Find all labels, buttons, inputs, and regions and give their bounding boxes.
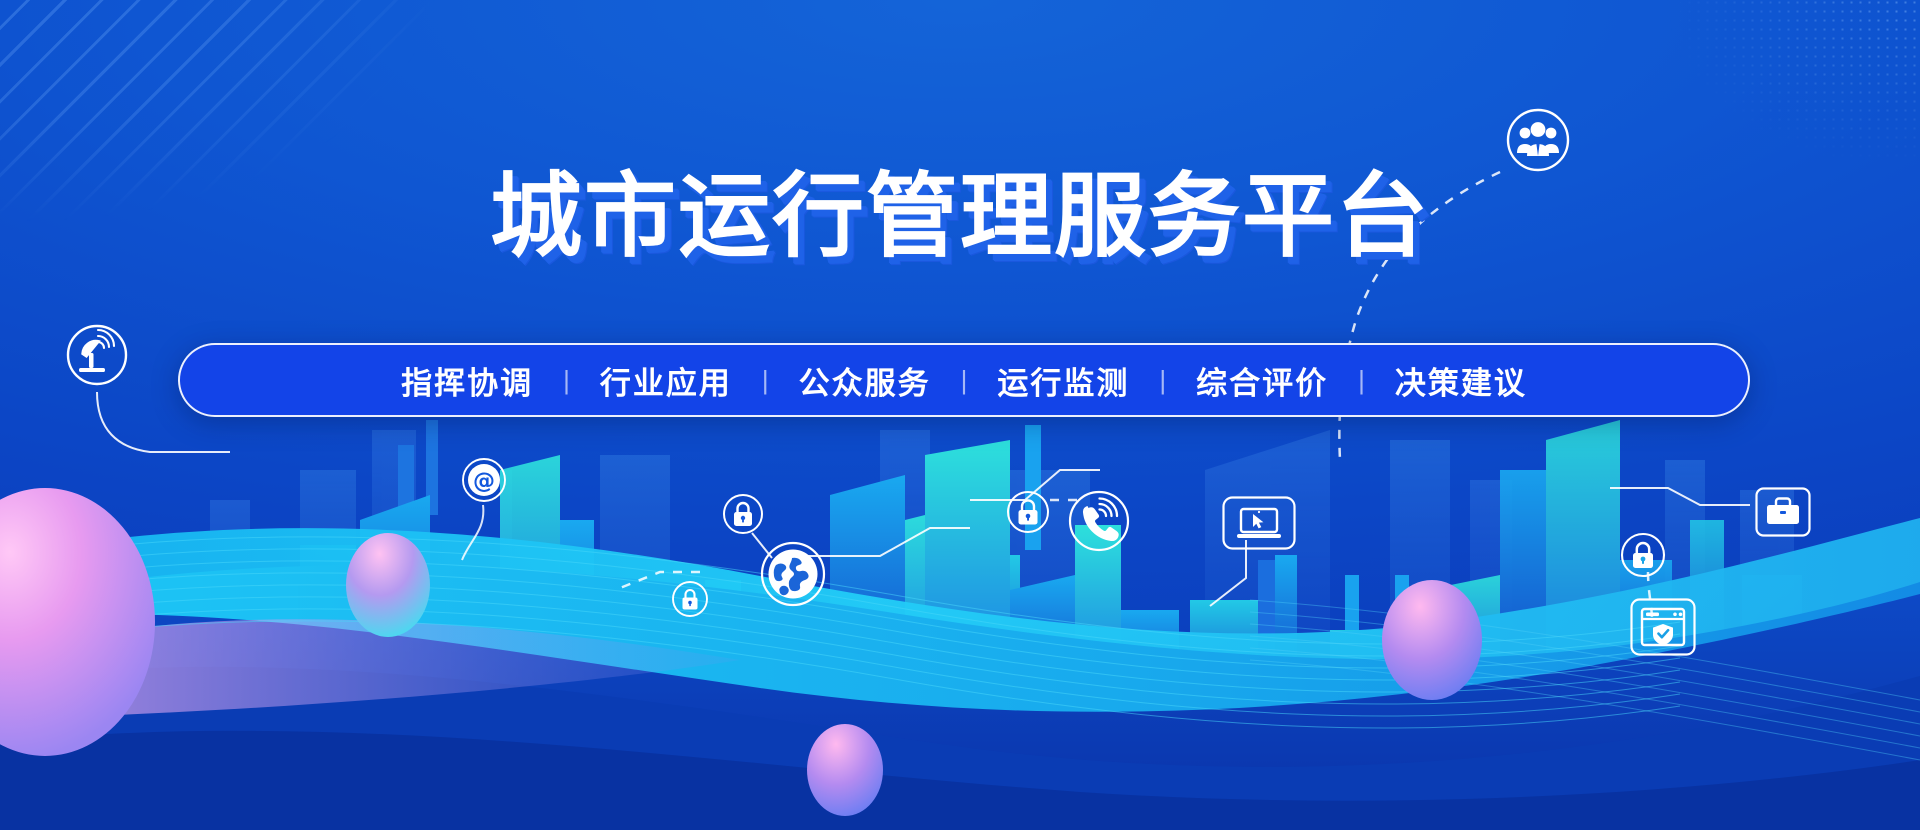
browser-shield-icon[interactable]	[1630, 598, 1696, 656]
sphere-decoration-mid-left	[346, 533, 430, 637]
page-title-wrapper: 城市运行管理服务平台	[0, 168, 1920, 266]
dot-grid-decoration-left	[0, 550, 350, 790]
people-group-icon[interactable]	[1506, 108, 1570, 172]
sphere-decoration-right	[1382, 580, 1482, 700]
sphere-decoration-left	[0, 488, 155, 756]
lock-right-icon[interactable]	[1620, 532, 1666, 578]
laptop-cursor-icon[interactable]	[1222, 496, 1296, 550]
globe-icon[interactable]	[760, 541, 826, 607]
nav-separator: |	[957, 365, 972, 396]
nav-item-industry-application[interactable]: 行业应用	[574, 358, 758, 403]
page-title: 城市运行管理服务平台	[490, 168, 1430, 266]
satellite-dish-icon[interactable]	[60, 318, 134, 392]
lock-mid-icon[interactable]	[1006, 490, 1050, 534]
nav-separator: |	[1155, 365, 1170, 396]
nav-item-public-service[interactable]: 公众服务	[773, 358, 957, 403]
nav-item-operation-monitoring[interactable]: 运行监测	[971, 358, 1155, 403]
nav-separator: |	[559, 365, 574, 396]
primary-nav-pill[interactable]: 指挥协调 | 行业应用 | 公众服务 | 运行监测 | 综合评价 | 决策建议	[178, 343, 1750, 417]
nav-separator: |	[758, 365, 773, 396]
nav-item-comprehensive-evaluation[interactable]: 综合评价	[1170, 358, 1354, 403]
lock-icon[interactable]	[722, 493, 764, 535]
briefcase-icon[interactable]	[1755, 487, 1811, 537]
sphere-decoration-bottom	[807, 724, 883, 816]
lock-small-icon[interactable]	[671, 580, 709, 618]
at-sign-icon[interactable]: @	[461, 457, 507, 503]
phone-signal-icon[interactable]	[1068, 490, 1130, 552]
banner-stage: 城市运行管理服务平台 指挥协调 | 行业应用 | 公众服务 | 运行监测 | 综…	[0, 0, 1920, 830]
nav-separator: |	[1354, 365, 1369, 396]
svg-text:@: @	[473, 469, 495, 494]
nav-item-decision-suggestion[interactable]: 决策建议	[1369, 358, 1553, 403]
nav-item-command-coordination[interactable]: 指挥协调	[375, 358, 559, 403]
